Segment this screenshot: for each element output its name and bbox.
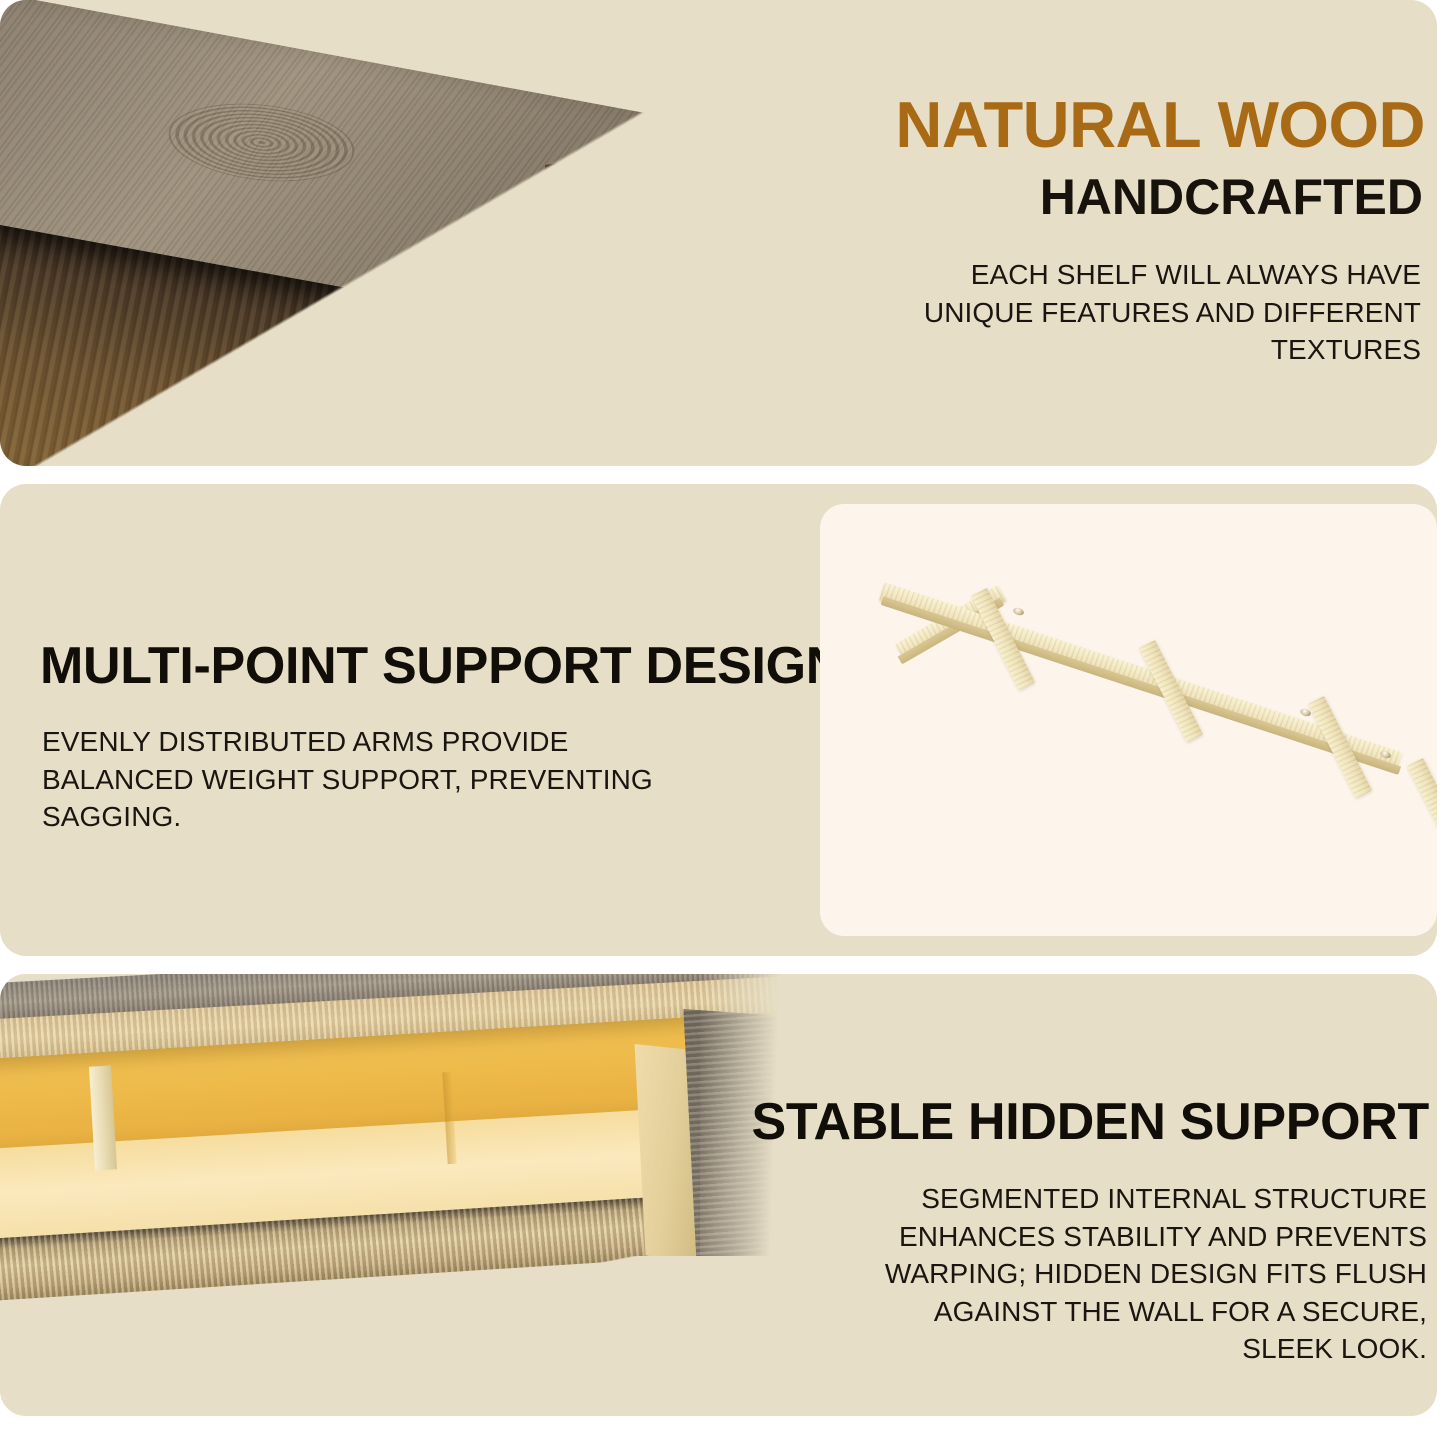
bracket-support-arm-4 bbox=[1407, 758, 1437, 861]
bracket-image-card bbox=[820, 504, 1437, 936]
multi-point-description: EVENLY DISTRIBUTED ARMS PROVIDE BALANCED… bbox=[42, 723, 702, 836]
multi-point-headline: MULTI-POINT SUPPORT DESIGN bbox=[40, 640, 843, 692]
image-fade-mask-right bbox=[650, 0, 800, 466]
dark-weathered-wood-shelf-image bbox=[0, 0, 800, 466]
bracket-main-rail-shadow bbox=[881, 596, 1402, 775]
hollow-shelf-interior-image bbox=[0, 974, 830, 1416]
panel-natural-wood: NATURAL WOOD HANDCRAFTED EACH SHELF WILL… bbox=[0, 0, 1437, 466]
handcrafted-subheadline: HANDCRAFTED bbox=[1040, 172, 1423, 222]
natural-wood-description: EACH SHELF WILL ALWAYS HAVE UNIQUE FEATU… bbox=[861, 256, 1421, 369]
stable-hidden-support-headline: STABLE HIDDEN SUPPORT bbox=[752, 1096, 1429, 1148]
pine-mounting-bracket-image bbox=[820, 504, 1437, 936]
product-feature-infographic: NATURAL WOOD HANDCRAFTED EACH SHELF WILL… bbox=[0, 0, 1445, 1433]
bracket-screw-hole-1 bbox=[1012, 606, 1025, 616]
natural-wood-headline: NATURAL WOOD bbox=[895, 92, 1425, 157]
image-fade-mask-bottom bbox=[0, 1256, 830, 1416]
stable-hidden-support-description: SEGMENTED INTERNAL STRUCTURE ENHANCES ST… bbox=[842, 1180, 1427, 1368]
